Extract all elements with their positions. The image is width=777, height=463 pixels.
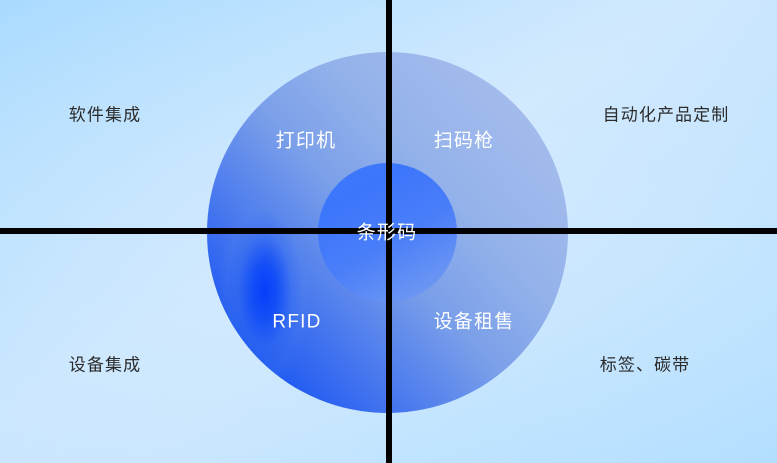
ring-label-bottom-left: RFID bbox=[272, 313, 321, 332]
ring-label-top-right: 扫码枪 bbox=[434, 132, 495, 151]
diagram-canvas: 打印机 扫码枪 RFID 设备租售 条形码 软件集成 自动化产品定制 设备集成 … bbox=[0, 0, 777, 463]
ring-label-top-left: 打印机 bbox=[276, 132, 337, 151]
quadrant-label-top-left: 软件集成 bbox=[69, 107, 141, 124]
quadrant-label-top-right: 自动化产品定制 bbox=[603, 107, 730, 124]
quadrant-label-bottom-right: 标签、碳带 bbox=[600, 357, 691, 374]
core-label: 条形码 bbox=[357, 224, 418, 243]
quadrant-label-bottom-left: 设备集成 bbox=[69, 357, 141, 374]
ring-label-bottom-right: 设备租售 bbox=[434, 313, 515, 332]
